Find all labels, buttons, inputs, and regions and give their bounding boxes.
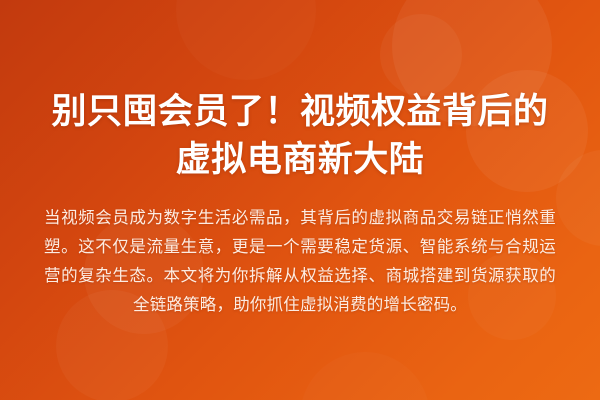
article-cover-banner: 别只囤会员了！视频权益背后的 虚拟电商新大陆 当视频会员成为数字生活必需品，其背…: [0, 0, 600, 400]
banner-subtitle: 当视频会员成为数字生活必需品，其背后的虚拟商品交易链正悄然重塑。这不仅是流量生意…: [44, 184, 556, 320]
banner-title: 别只囤会员了！视频权益背后的 虚拟电商新大陆: [44, 0, 556, 184]
banner-content: 别只囤会员了！视频权益背后的 虚拟电商新大陆 当视频会员成为数字生活必需品，其背…: [0, 0, 600, 400]
